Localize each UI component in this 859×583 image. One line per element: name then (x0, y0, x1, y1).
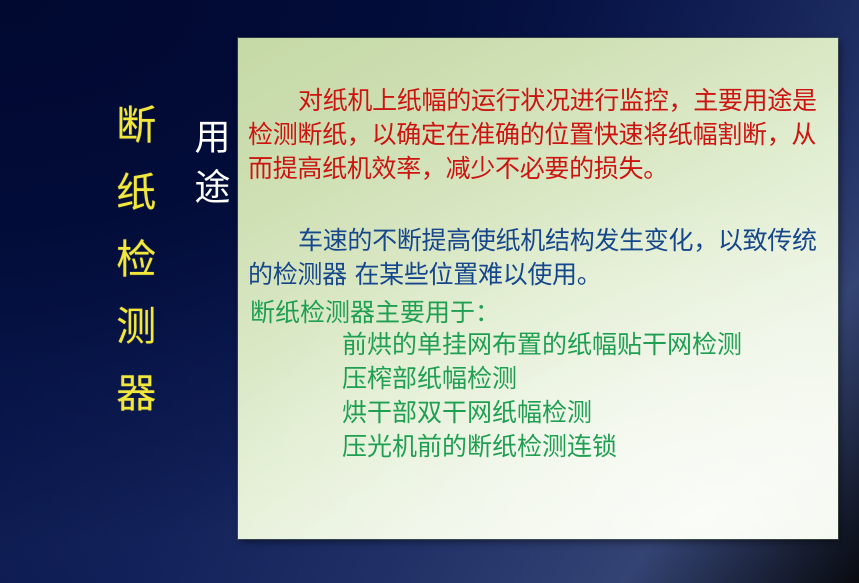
list-item: 压光机前的断纸检测连锁 (342, 430, 742, 464)
paragraph-purpose-red: 对纸机上纸幅的运行状况进行监控，主要用途是检测断纸，以确定在准确的位置快速将纸幅… (248, 84, 832, 186)
slide-subtitle-vertical: 用途 (178, 118, 238, 218)
content-panel: 对纸机上纸幅的运行状况进行监控，主要用途是检测断纸，以确定在准确的位置快速将纸幅… (238, 38, 838, 539)
application-list: 前烘的单挂网布置的纸幅贴干网检测 压榨部纸幅检测 烘干部双干网纸幅检测 压光机前… (342, 328, 742, 464)
list-item: 压榨部纸幅检测 (342, 362, 742, 396)
list-item: 前烘的单挂网布置的纸幅贴干网检测 (342, 328, 742, 362)
slide-title-vertical: 断纸检测器 (98, 104, 165, 439)
presentation-slide: 断纸检测器 用途 对纸机上纸幅的运行状况进行监控，主要用途是检测断纸，以确定在准… (0, 0, 859, 583)
list-item: 烘干部双干网纸幅检测 (342, 396, 742, 430)
list-heading-green: 断纸检测器主要用于： (250, 296, 500, 330)
paragraph-speed-blue: 车速的不断提高使纸机结构发生变化，以致传统的检测器 在某些位置难以使用。 (248, 224, 832, 292)
